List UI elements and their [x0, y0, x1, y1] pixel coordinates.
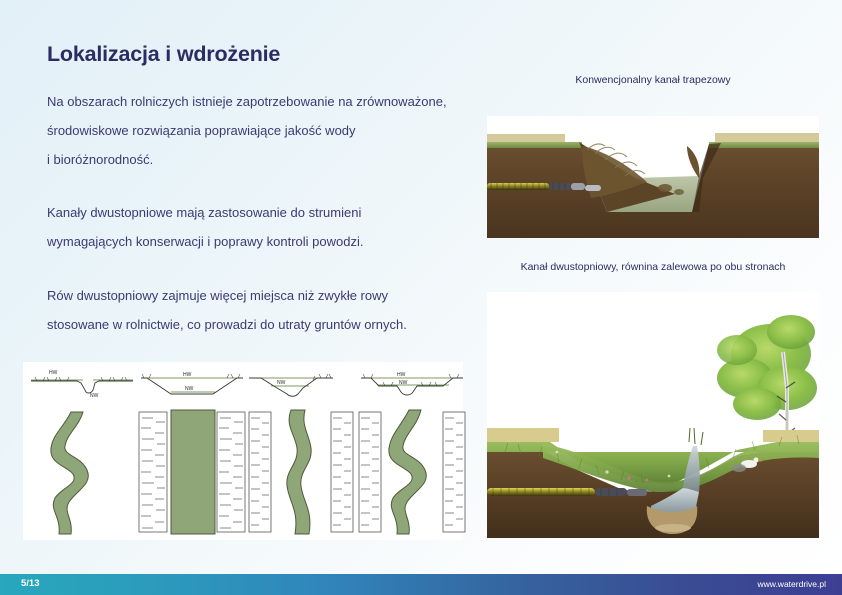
xsec-3-nw-label: NW: [277, 380, 286, 386]
xsec-4-hw-label: HW: [397, 372, 406, 378]
page-title: Lokalizacja i wdrożenie: [47, 42, 280, 67]
body-paragraph-1: Na obszarach rolniczych istnieje zapotrz…: [47, 87, 492, 174]
paragraph-1-line-1: Na obszarach rolniczych istnieje zapotrz…: [47, 87, 492, 116]
paragraph-2-line-1: Kanały dwustopniowe mają zastosowanie do…: [47, 198, 492, 227]
page-number: 5/13: [21, 578, 40, 589]
xsec-2-nw-label: NW: [185, 386, 194, 392]
figure-bottom-caption: Kanał dwustopniowy, równina zalewowa po …: [483, 261, 823, 273]
trapezoidal-channel-svg: [487, 116, 819, 238]
two-stage-channel-svg: [487, 292, 819, 538]
planform-4: [357, 408, 467, 538]
body-paragraph-2: Kanały dwustopniowe mają zastosowanie do…: [47, 198, 492, 256]
slide: Lokalizacja i wdrożenie Na obszarach rol…: [0, 0, 842, 595]
paragraph-1-line-3: i bioróżnorodność.: [47, 145, 492, 174]
cross-section-2: HW NW: [137, 364, 247, 404]
paragraph-3-line-1: Rów dwustopniowy zajmuje więcej miejsca …: [47, 281, 492, 310]
xsec-2-hw-label: HW: [183, 372, 192, 378]
figure-top-caption: Konwencjonalny kanał trapezowy: [483, 74, 823, 86]
cross-section-1: HW NW: [27, 364, 137, 404]
planform-2: [137, 408, 247, 538]
xsec-4-nw-label: NW: [399, 380, 408, 386]
cross-section-3: NW: [247, 364, 357, 404]
two-stage-channel-image: [487, 292, 819, 538]
stream-cross-section-diagram: HW NW HW NW: [23, 362, 463, 540]
body-paragraph-3: Rów dwustopniowy zajmuje więcej miejsca …: [47, 281, 492, 339]
footer-bar: 5/13 www.waterdrive.pl: [0, 574, 842, 595]
xsec-1-hw-label: HW: [49, 370, 58, 376]
cross-section-4: HW NW: [357, 364, 467, 404]
paragraph-2-line-2: wymagających konserwacji i poprawy kontr…: [47, 227, 492, 256]
paragraph-1-line-2: środowiskowe rozwiązania poprawiające ja…: [47, 116, 492, 145]
planform-3: [247, 408, 357, 538]
trapezoidal-channel-image: [487, 116, 819, 238]
site-url[interactable]: www.waterdrive.pl: [758, 579, 827, 589]
planform-1: [27, 408, 137, 538]
xsec-1-nw-label: NW: [90, 393, 99, 399]
paragraph-3-line-2: stosowane w rolnictwie, co prowadzi do u…: [47, 310, 492, 339]
